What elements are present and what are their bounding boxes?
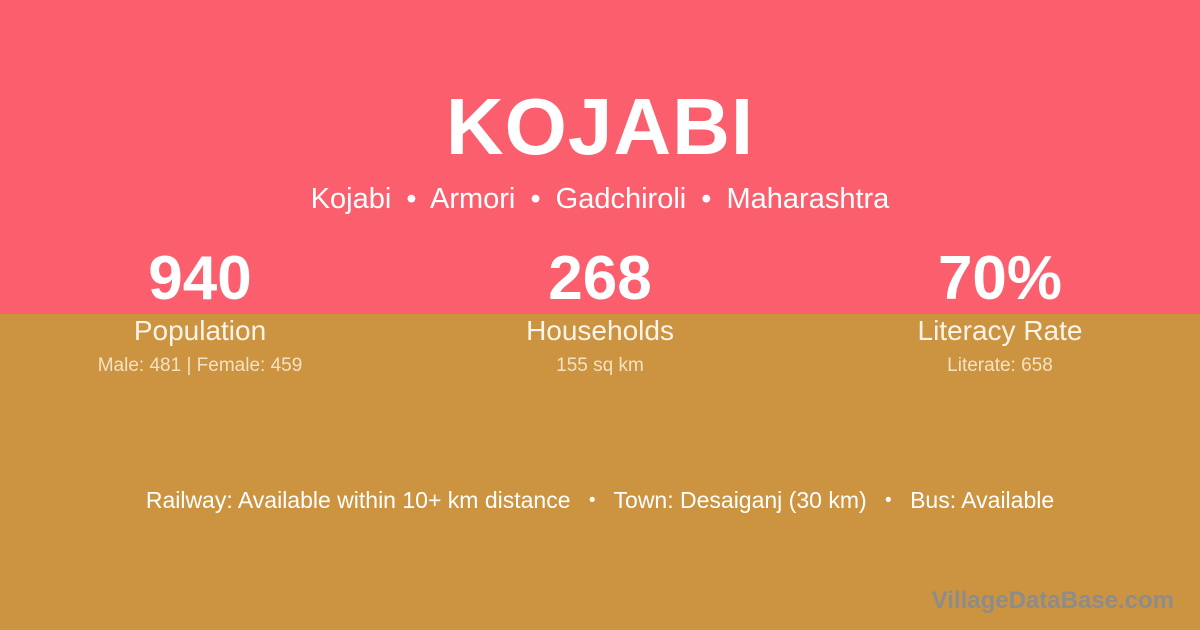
stats-row: 940 Population Male: 481 | Female: 459 2… (0, 246, 1200, 378)
stat-label: Households (400, 314, 800, 348)
facilities-line: Railway: Available within 10+ km distanc… (0, 484, 1200, 519)
stat-value: 940 (0, 246, 400, 312)
facility-separator-icon: • (577, 490, 608, 511)
breadcrumb-village: Kojabi (311, 183, 392, 215)
stat-label: Literacy Rate (800, 314, 1200, 348)
stat-households: 268 Households 155 sq km (400, 246, 800, 378)
stat-population: 940 Population Male: 481 | Female: 459 (0, 246, 400, 378)
village-info-card: KOJABI Kojabi • Armori • Gadchiroli • Ma… (0, 0, 1200, 630)
facility-town: Town: Desaiganj (30 km) (614, 487, 867, 513)
breadcrumb-district: Gadchiroli (556, 183, 687, 215)
site-watermark: VillageDataBase.com (932, 586, 1174, 616)
breadcrumb-separator-icon: • (694, 183, 718, 215)
page-title: KOJABI (0, 84, 1200, 170)
stat-sublabel: 155 sq km (400, 354, 800, 378)
stat-label: Population (0, 314, 400, 348)
breadcrumb-separator-icon: • (523, 183, 547, 215)
facility-railway: Railway: Available within 10+ km distanc… (146, 487, 571, 513)
stat-value: 70% (800, 246, 1200, 312)
breadcrumb-separator-icon: • (399, 183, 423, 215)
breadcrumb-state: Maharashtra (727, 183, 890, 215)
breadcrumb: Kojabi • Armori • Gadchiroli • Maharasht… (0, 181, 1200, 217)
stat-value: 268 (400, 246, 800, 312)
facility-bus: Bus: Available (910, 487, 1054, 513)
stat-sublabel: Literate: 658 (800, 354, 1200, 378)
stat-sublabel: Male: 481 | Female: 459 (0, 354, 400, 378)
stat-literacy-rate: 70% Literacy Rate Literate: 658 (800, 246, 1200, 378)
facility-separator-icon: • (873, 490, 904, 511)
breadcrumb-block: Armori (430, 183, 515, 215)
